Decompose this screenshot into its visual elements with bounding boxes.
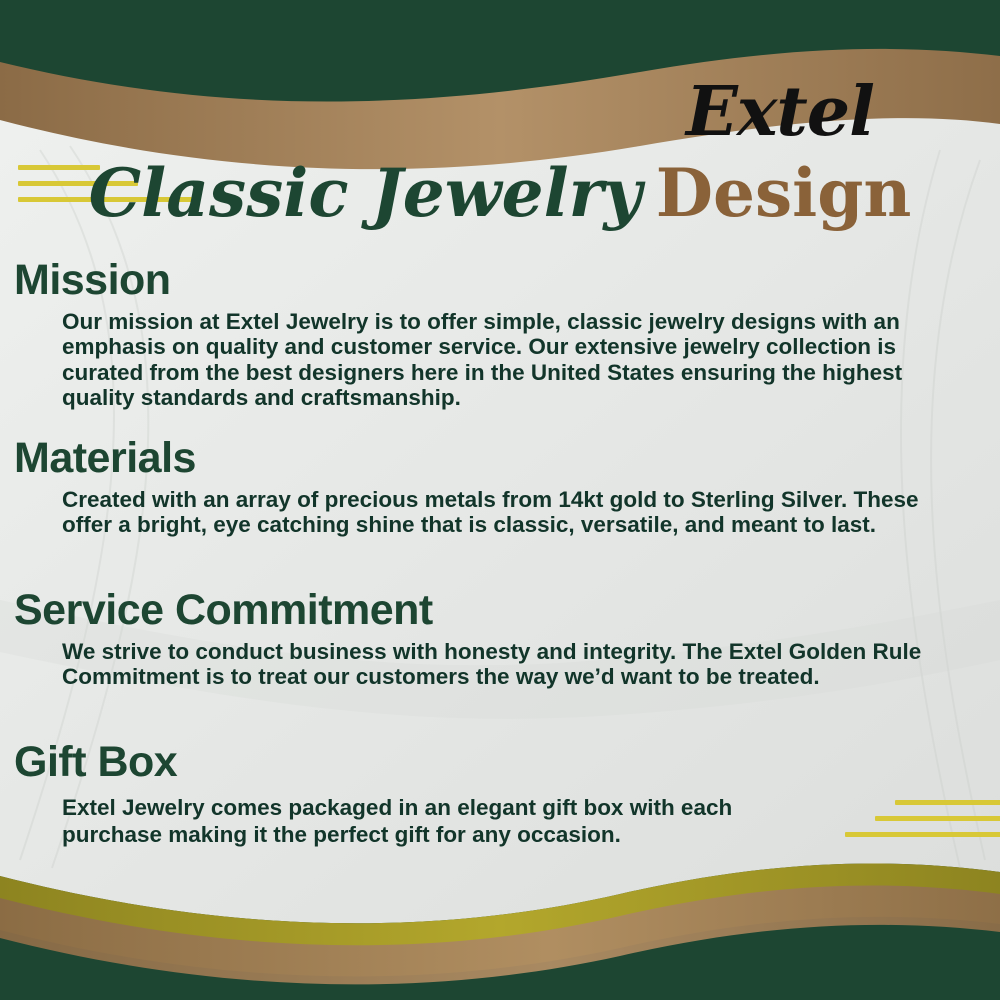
section-materials: Materials Created with an array of preci… <box>14 436 984 538</box>
page-title-secondary: Design <box>656 154 912 232</box>
section-service-commitment: Service Commitment We strive to conduct … <box>14 588 984 690</box>
section-body: Extel Jewelry comes packaged in an elega… <box>62 795 762 848</box>
section-gift-box: Gift Box Extel Jewelry comes packaged in… <box>14 740 984 848</box>
section-title: Gift Box <box>14 740 984 785</box>
section-body: Our mission at Extel Jewelry is to offer… <box>62 309 972 410</box>
section-body: We strive to conduct business with hones… <box>62 639 972 689</box>
page-title-primary: Classic Jewelry <box>89 154 642 232</box>
section-title: Mission <box>14 258 984 303</box>
poster-canvas: Extel Classic JewelryDesign Mission Our … <box>0 0 1000 1000</box>
section-mission: Mission Our mission at Extel Jewelry is … <box>14 258 984 410</box>
brand-wordmark: Extel <box>600 78 960 146</box>
section-title: Materials <box>14 436 984 481</box>
section-title: Service Commitment <box>14 588 984 633</box>
section-body: Created with an array of precious metals… <box>62 487 972 537</box>
page-title: Classic JewelryDesign <box>20 160 980 226</box>
